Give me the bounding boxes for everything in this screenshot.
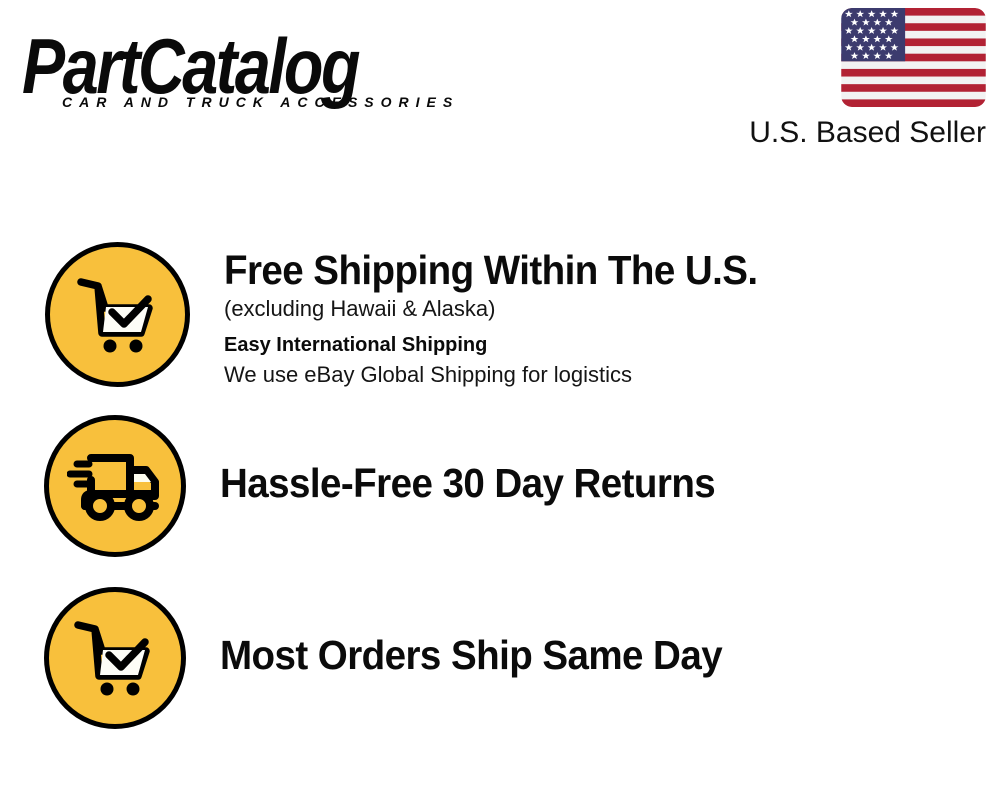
feature-row: Hassle-Free 30 Day Returns xyxy=(0,415,1000,585)
shopping-cart-check-icon xyxy=(45,242,190,387)
feature-text: Free Shipping Within The U.S. (excluding… xyxy=(224,242,1000,390)
feature-subtitle: (excluding Hawaii & Alaska) xyxy=(224,294,1000,324)
feature-text: Hassle-Free 30 Day Returns xyxy=(220,415,1000,507)
feature-text: Most Orders Ship Same Day xyxy=(220,587,1000,679)
feature-title: Hassle-Free 30 Day Returns xyxy=(220,459,953,507)
feature-subtitle-strong: Easy International Shipping xyxy=(224,330,1000,360)
shopping-cart-check-icon xyxy=(44,587,186,729)
us-based-seller-badge: U.S. Based Seller xyxy=(720,8,986,151)
feature-title: Most Orders Ship Same Day xyxy=(220,631,953,679)
brand-tagline: CAR AND TRUCK ACCESSORIES xyxy=(62,94,459,110)
feature-title: Free Shipping Within The U.S. xyxy=(224,246,953,294)
feature-subtitle-secondary: We use eBay Global Shipping for logistic… xyxy=(224,360,1000,390)
page-header: PartCatalog CAR AND TRUCK ACCESSORIES xyxy=(0,0,1000,170)
brand-logo[interactable]: PartCatalog CAR AND TRUCK ACCESSORIES xyxy=(22,24,492,116)
seller-location-label: U.S. Based Seller xyxy=(720,115,986,151)
delivery-truck-icon xyxy=(44,415,186,557)
us-flag-icon xyxy=(841,8,986,107)
feature-row: Free Shipping Within The U.S. (excluding… xyxy=(0,242,1000,417)
feature-row: Most Orders Ship Same Day xyxy=(0,587,1000,757)
